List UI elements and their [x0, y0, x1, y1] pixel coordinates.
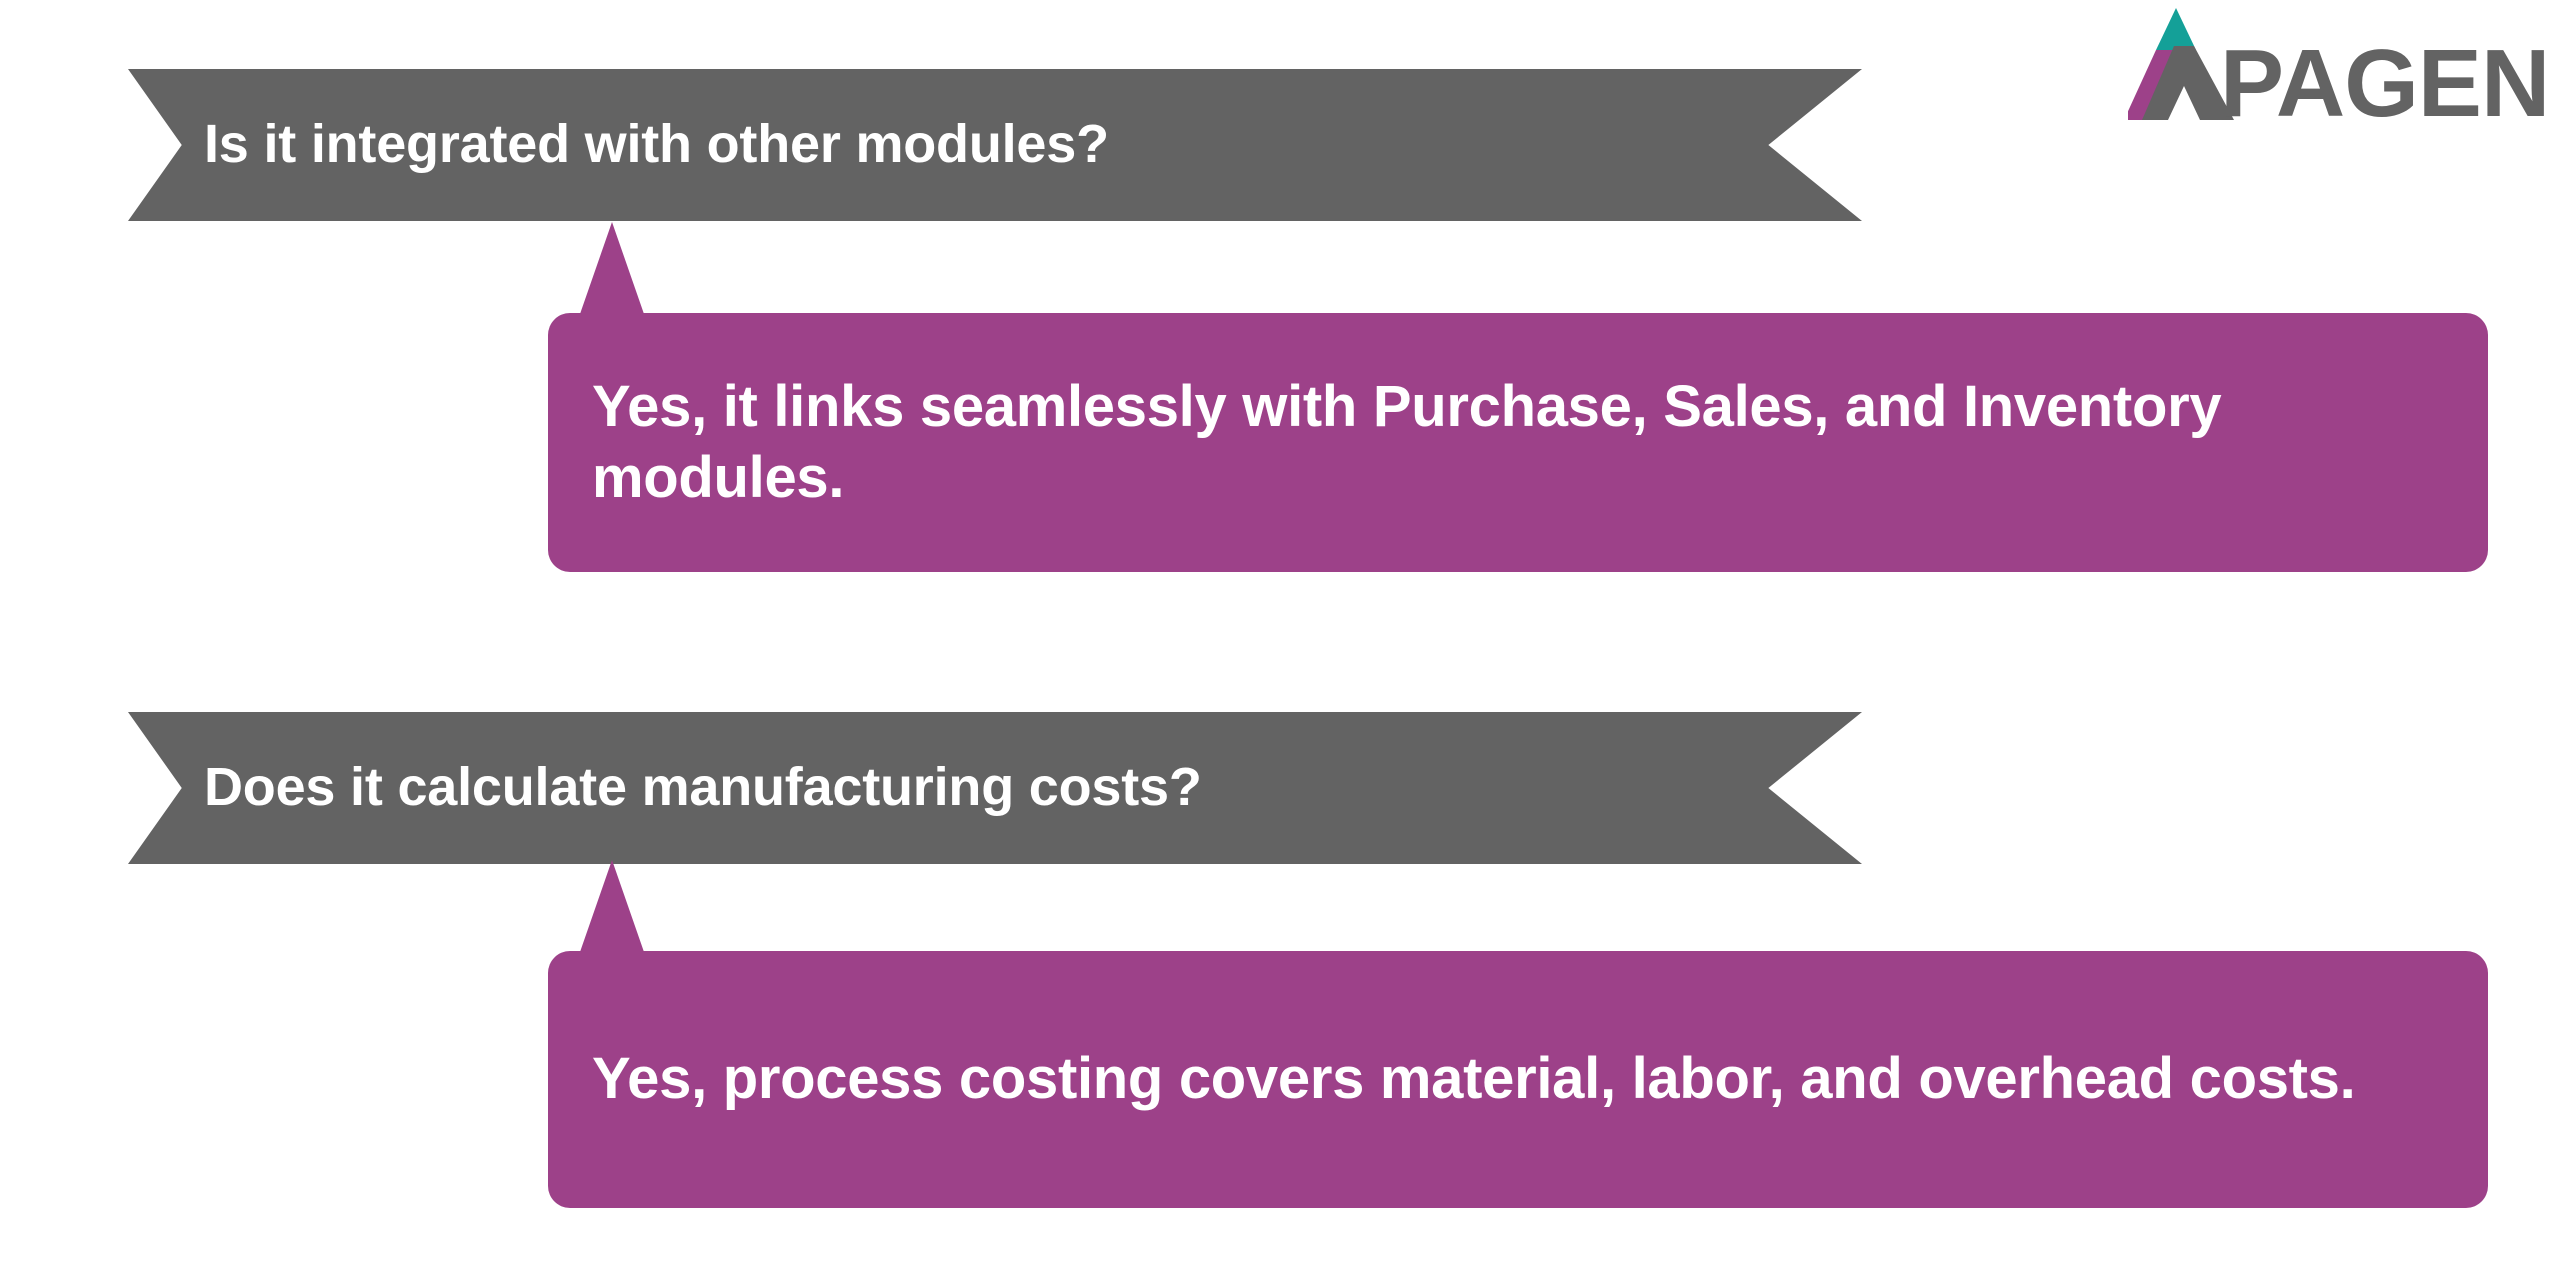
faq-question-text-2: Does it calculate manufacturing costs? — [128, 758, 1202, 817]
faq-answer-bubble-2[interactable]: Yes, process costing covers material, la… — [548, 951, 2488, 1208]
faq-answer-text-1: Yes, it links seamlessly with Purchase, … — [548, 372, 2488, 514]
faq-graphic: PAGEN Is it integrated with other module… — [0, 0, 2560, 1280]
faq-answer-tail-1 — [580, 222, 644, 314]
faq-question-ribbon-1[interactable]: Is it integrated with other modules? — [128, 69, 1862, 221]
logo-triangle-teal-icon — [2156, 8, 2196, 50]
faq-answer-bubble-1[interactable]: Yes, it links seamlessly with Purchase, … — [548, 313, 2488, 572]
logo-wordmark: PAGEN — [2220, 30, 2548, 122]
apagen-logo: PAGEN — [2128, 6, 2548, 122]
faq-question-text-1: Is it integrated with other modules? — [128, 115, 1109, 174]
faq-answer-text-2: Yes, process costing covers material, la… — [548, 1044, 2399, 1115]
faq-question-ribbon-2[interactable]: Does it calculate manufacturing costs? — [128, 712, 1862, 864]
faq-answer-tail-2 — [580, 860, 644, 952]
